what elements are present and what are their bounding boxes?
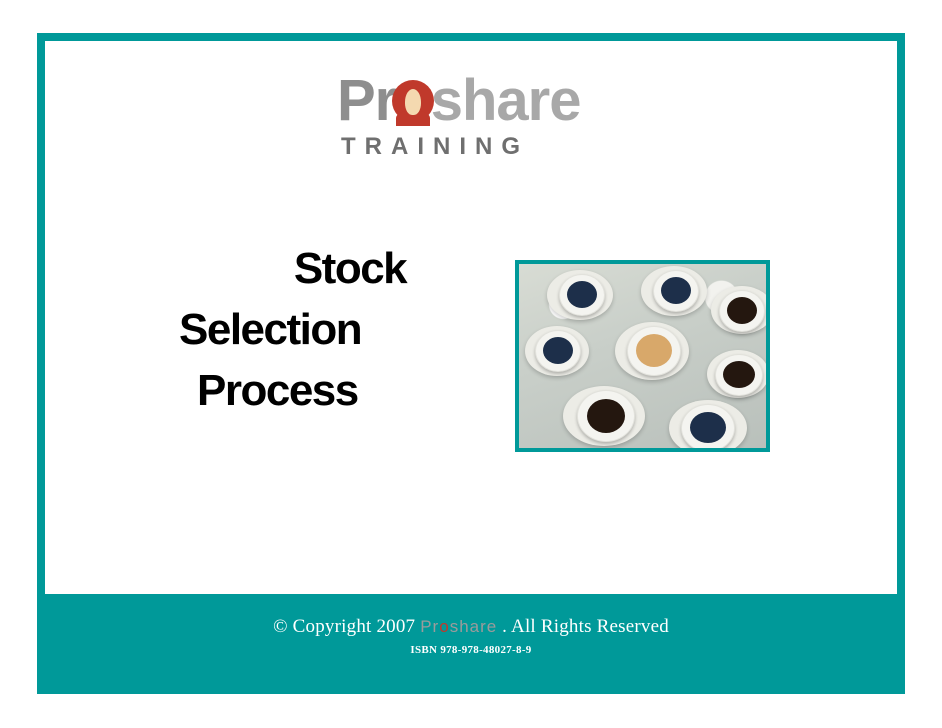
proshare-logo: Proshare TRAINING <box>337 71 597 176</box>
person-in-circle-icon <box>392 80 434 122</box>
coffee-cups-photo <box>515 260 770 452</box>
logo-text-share: share <box>431 68 581 133</box>
footer-brand-share: share <box>450 617 498 636</box>
cup-shape <box>577 390 635 442</box>
slide-footer: © Copyright 2007 Proshare . All Rights R… <box>45 594 897 686</box>
title-line-2: Selection <box>177 299 497 360</box>
presentation-slide: Proshare TRAINING Stock Selection Proces… <box>37 33 905 694</box>
title-line-1: Stock <box>177 238 497 299</box>
cup-shape <box>559 274 605 316</box>
title-line-3: Process <box>177 360 497 421</box>
cup-shape <box>715 354 763 396</box>
logo-wordmark: Proshare <box>337 71 580 131</box>
footer-copyright-suffix: . All Rights Reserved <box>497 616 669 637</box>
cup-shape <box>653 270 699 312</box>
cup-shape <box>535 330 581 372</box>
cup-shape <box>719 290 765 332</box>
footer-copyright-prefix: © Copyright 2007 <box>273 616 420 637</box>
footer-isbn: ISBN 978-978-48027-8-9 <box>45 644 897 656</box>
footer-brand-pro: Pr <box>420 617 439 636</box>
slide-title: Stock Selection Process <box>177 238 497 421</box>
photo-content <box>519 264 766 448</box>
cup-shape <box>681 404 735 452</box>
slide-border-left <box>37 33 45 694</box>
footer-brand-o: o <box>439 617 449 636</box>
footer-copyright: © Copyright 2007 Proshare . All Rights R… <box>45 616 897 638</box>
logo-text-pro: Pr <box>337 68 396 133</box>
slide-border-top <box>37 33 905 41</box>
logo-tagline: TRAINING <box>341 133 529 161</box>
cappuccino-cup-shape <box>627 326 681 376</box>
slide-border-right <box>897 33 905 694</box>
slide-border-bottom <box>37 686 905 694</box>
